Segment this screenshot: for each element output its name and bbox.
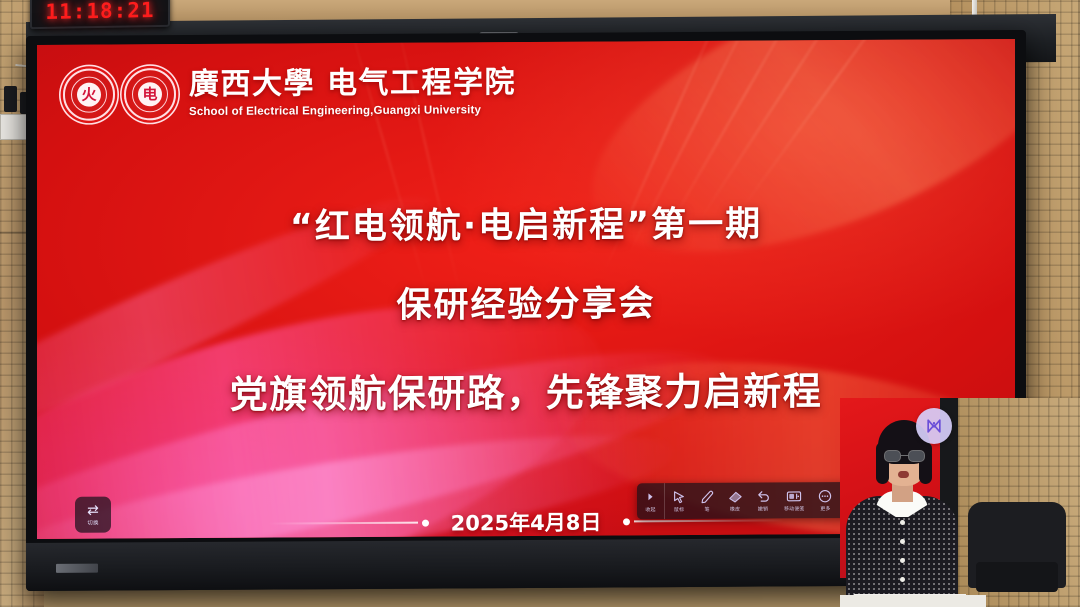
switch-button-label: 切换 [87,519,98,527]
date-rule-left [268,522,418,525]
org-name-block: 廣西大學 电气工程学院 School of Electrical Enginee… [189,68,516,118]
pen-icon [700,489,714,504]
more-icon [818,488,832,503]
presenter-mouth [898,471,909,478]
sticky-note-icon [786,488,802,503]
org-name-en: School of Electrical Engineering,Guangxi… [189,104,516,118]
date-rule-right [634,519,784,522]
slide-title-line1: “红电领航·电启新程”第一期 [37,194,1015,251]
emblem-right-glyph: 电 [138,82,162,106]
university-emblem-right: 电 [124,68,176,120]
undo-icon [756,489,770,504]
display-brand-logo [56,564,98,573]
date-dot-right [623,518,630,525]
office-chair [968,502,1066,588]
toolbar-item-label: 移动便笺 [784,505,804,512]
play-badge-glyph [924,416,944,436]
slide-title-line2: 保研经验分享会 [37,273,1015,330]
toolbar-item-label: 笔 [704,506,709,513]
power-plug [4,86,17,112]
eraser-icon [728,489,742,504]
toolbar-item-label: 鼠标 [674,506,684,513]
toolbar-undo-button[interactable]: 撤销 [749,482,777,518]
toolbar-sticky-note-button[interactable]: 移动便笺 [777,482,811,518]
toolbar-collapse-button[interactable]: 收起 [637,483,665,519]
slide-header: 火 电 廣西大學 电气工程学院 School of Electrical Eng… [63,66,516,121]
switch-button[interactable]: ⇄ 切换 [75,497,111,533]
cursor-icon [672,489,686,504]
swap-arrows-icon: ⇄ [87,503,99,517]
glasses-bridge [901,455,908,456]
collapse-arrow-icon [645,489,656,504]
toolbar-eraser-button[interactable]: 橡皮 [721,483,749,519]
shirt-buttons [900,520,905,600]
slide-date: 2025年4月8日 [451,507,602,538]
university-emblem-left: 火 [63,69,115,121]
presenter-hair-side [876,442,889,484]
wall-clock: 11:18:21 [30,0,170,29]
desk-edge [840,595,986,607]
toolbar-item-label: 更多 [820,505,830,512]
glasses-lens-right [908,450,925,462]
toolbar-pen-button[interactable]: 笔 [693,483,721,519]
classroom-scene: 11:18:21 火 电 [0,0,1080,607]
presenter-view [840,398,1080,607]
video-play-badge-icon [916,408,952,444]
toolbar-more-button[interactable]: 更多 [811,482,839,518]
date-dot-left [422,519,429,526]
toolbar-item-label: 橡皮 [730,506,740,513]
presenter-hair-side [919,442,932,484]
clock-time: 11:18:21 [45,0,154,24]
glasses-lens-left [884,450,901,462]
org-name-zh: 廣西大學 电气工程学院 [189,68,516,100]
toolbar-item-label: 撤销 [758,506,768,513]
toolbar-item-label: 收起 [645,506,655,513]
emblem-left-glyph: 火 [77,83,101,107]
toolbar-cursor-button[interactable]: 鼠标 [665,483,693,519]
